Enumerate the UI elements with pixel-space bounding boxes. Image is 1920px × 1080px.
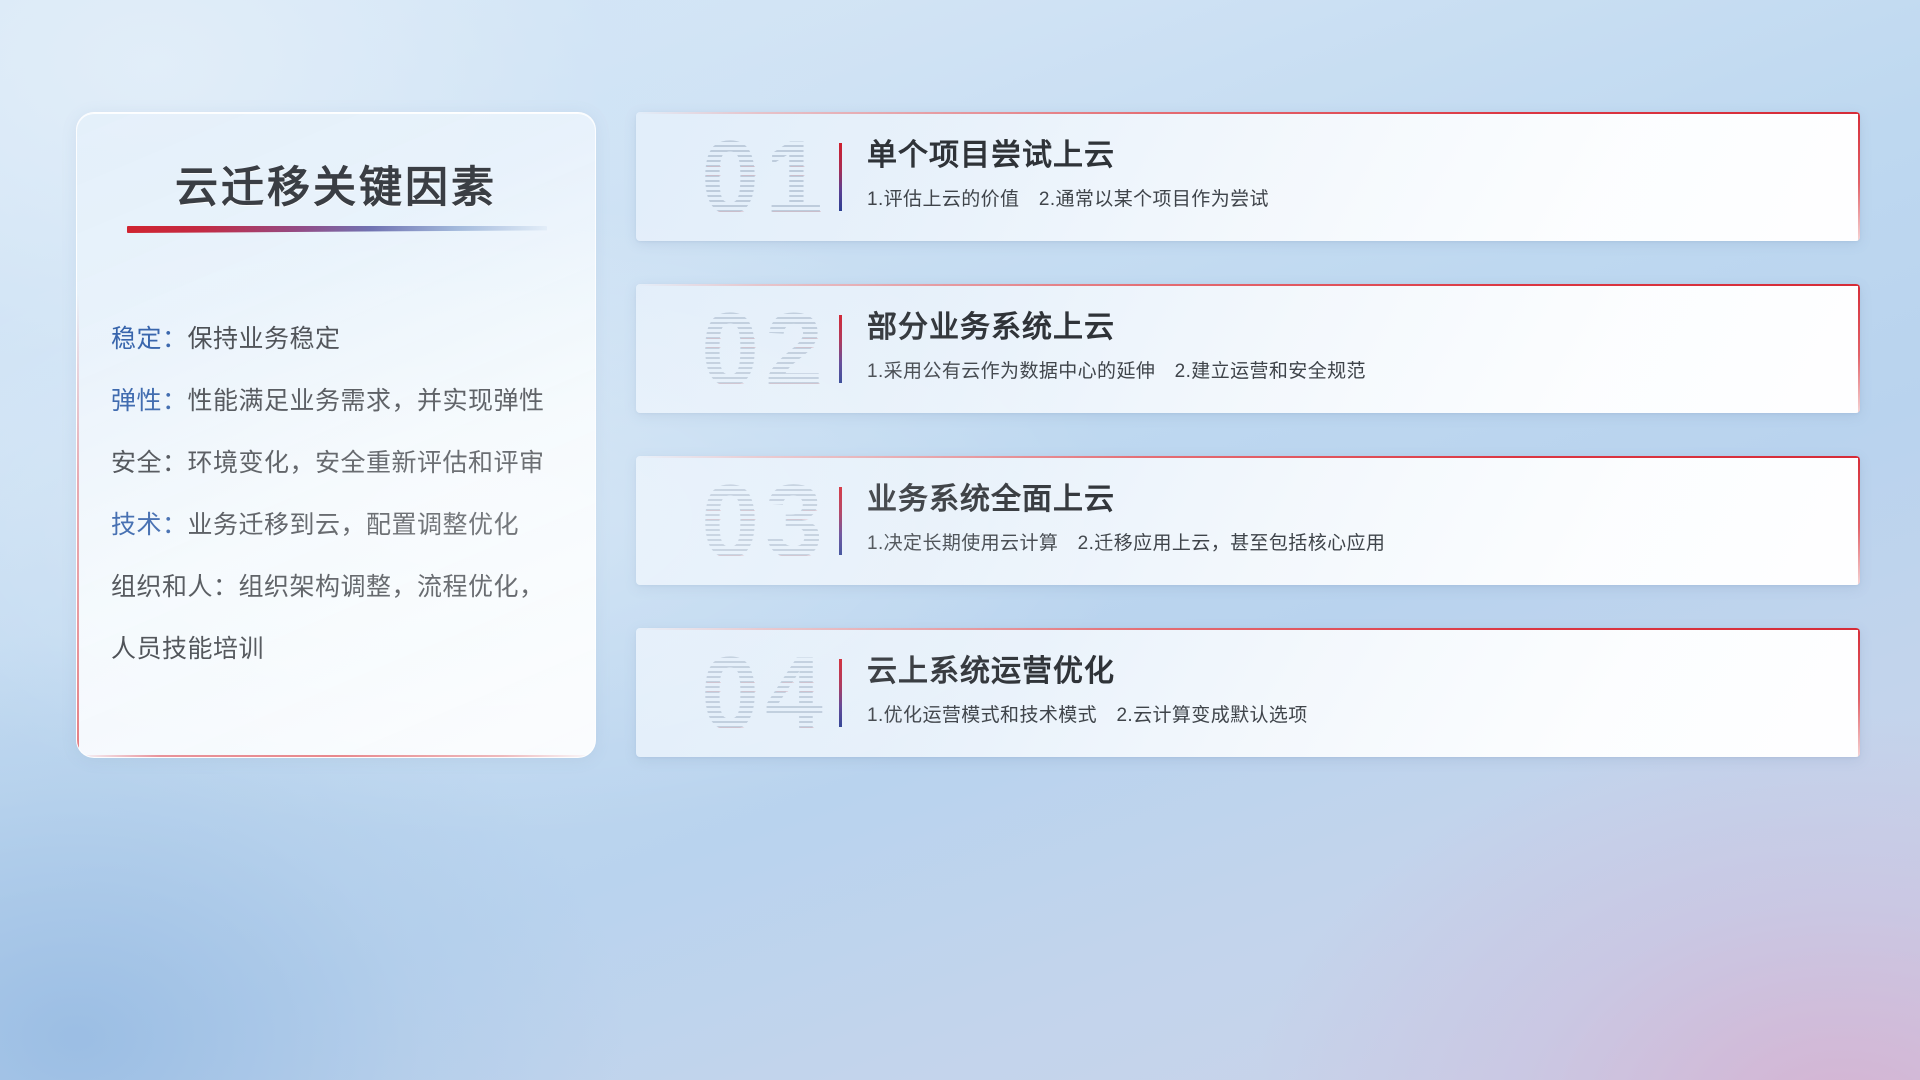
card-right-accent-line xyxy=(1858,628,1860,757)
card-top-accent-line xyxy=(636,456,1860,458)
list-item-text: 保持业务稳定 xyxy=(188,325,341,353)
stage-card[interactable]: 01 单个项目尝试上云 1.评估上云的价值 2.通常以某个项目作为尝试 xyxy=(636,112,1860,241)
stage-number-watermark: 04 xyxy=(670,636,860,752)
list-item-text: 组织架构调整，流程优化， xyxy=(239,573,545,601)
list-item-text: 人员技能培训 xyxy=(111,635,264,663)
card-title: 业务系统全面上云 xyxy=(867,478,1836,522)
card-subtitle: 1.评估上云的价值 2.通常以某个项目作为尝试 xyxy=(867,186,1836,214)
stage-number-watermark: 03 xyxy=(670,464,860,580)
panel-bottom-accent-line xyxy=(77,755,595,757)
panel-left-accent-line xyxy=(77,293,79,757)
list-item: 人员技能培训 xyxy=(111,618,575,680)
list-item: 技术：业务迁移到云，配置调整优化 xyxy=(111,494,575,556)
card-title: 单个项目尝试上云 xyxy=(867,134,1836,178)
card-right-accent-line xyxy=(1858,456,1860,585)
list-item: 弹性：性能满足业务需求，并实现弹性 xyxy=(111,370,575,432)
card-right-accent-line xyxy=(1858,284,1860,413)
list-item-label: 安全： xyxy=(111,449,188,477)
stage-number-watermark: 01 xyxy=(670,120,860,236)
card-top-accent-line xyxy=(636,284,1860,286)
card-subtitle: 1.决定长期使用云计算 2.迁移应用上云，甚至包括核心应用 xyxy=(867,530,1836,558)
card-subtitle: 1.优化运营模式和技术模式 2.云计算变成默认选项 xyxy=(867,702,1836,730)
key-factors-panel: 云迁移关键因素 稳定：保持业务稳定 弹性：性能满足业务需求，并实现弹性 安全：环… xyxy=(76,112,596,758)
list-item: 组织和人：组织架构调整，流程优化， xyxy=(111,556,575,618)
list-item-text: 业务迁移到云，配置调整优化 xyxy=(188,511,520,539)
list-item-text: 性能满足业务需求，并实现弹性 xyxy=(188,387,545,415)
card-right-accent-line xyxy=(1858,112,1860,241)
card-accent-bar xyxy=(839,315,842,383)
card-top-accent-line xyxy=(636,628,1860,630)
list-item-label: 稳定： xyxy=(111,325,188,353)
card-subtitle: 1.采用公有云作为数据中心的延伸 2.建立运营和安全规范 xyxy=(867,358,1836,386)
list-item: 安全：环境变化，安全重新评估和评审 xyxy=(111,432,575,494)
migration-stage-card-list: 01 单个项目尝试上云 1.评估上云的价值 2.通常以某个项目作为尝试 02 部… xyxy=(636,112,1860,800)
page-title: 云迁移关键因素 xyxy=(77,153,595,215)
list-item-label: 组织和人： xyxy=(111,573,239,601)
card-text-block: 部分业务系统上云 1.采用公有云作为数据中心的延伸 2.建立运营和安全规范 xyxy=(867,306,1836,386)
list-item-text: 环境变化，安全重新评估和评审 xyxy=(188,449,545,477)
card-title: 部分业务系统上云 xyxy=(867,306,1836,350)
card-accent-bar xyxy=(839,659,842,727)
card-top-accent-line xyxy=(636,112,1860,114)
list-item-label: 弹性： xyxy=(111,387,188,415)
slide-canvas: 云迁移关键因素 稳定：保持业务稳定 弹性：性能满足业务需求，并实现弹性 安全：环… xyxy=(0,0,1920,1080)
stage-number-watermark: 02 xyxy=(670,292,860,408)
card-text-block: 单个项目尝试上云 1.评估上云的价值 2.通常以某个项目作为尝试 xyxy=(867,134,1836,214)
key-factors-list: 稳定：保持业务稳定 弹性：性能满足业务需求，并实现弹性 安全：环境变化，安全重新… xyxy=(111,308,575,680)
card-text-block: 云上系统运营优化 1.优化运营模式和技术模式 2.云计算变成默认选项 xyxy=(867,650,1836,730)
card-accent-bar xyxy=(839,487,842,555)
card-title: 云上系统运营优化 xyxy=(867,650,1836,694)
stage-card[interactable]: 04 云上系统运营优化 1.优化运营模式和技术模式 2.云计算变成默认选项 xyxy=(636,628,1860,757)
list-item: 稳定：保持业务稳定 xyxy=(111,308,575,370)
card-accent-bar xyxy=(839,143,842,211)
list-item-label: 技术： xyxy=(111,511,188,539)
stage-card[interactable]: 03 业务系统全面上云 1.决定长期使用云计算 2.迁移应用上云，甚至包括核心应… xyxy=(636,456,1860,585)
title-underline-rule xyxy=(127,226,547,233)
stage-card[interactable]: 02 部分业务系统上云 1.采用公有云作为数据中心的延伸 2.建立运营和安全规范 xyxy=(636,284,1860,413)
card-text-block: 业务系统全面上云 1.决定长期使用云计算 2.迁移应用上云，甚至包括核心应用 xyxy=(867,478,1836,558)
